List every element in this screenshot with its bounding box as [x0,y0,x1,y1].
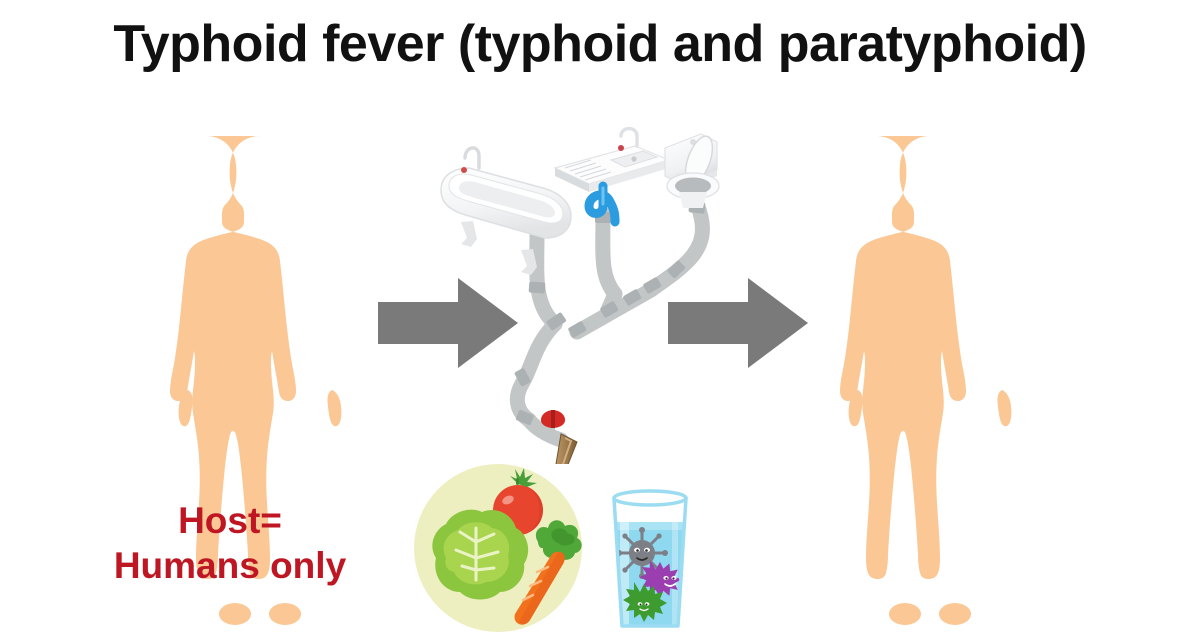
pipe-toilet-branch [651,204,702,290]
pipe-bathtub-branch [537,234,555,324]
coupling [529,281,546,293]
human-right-foot [269,603,301,625]
human-right-hand [327,390,341,426]
host-label-line-1: Host= [60,498,400,543]
bathtub-faucet [465,148,479,168]
germ-gray-body [629,540,655,566]
page-title: Typhoid fever (typhoid and paratyphoid) [0,14,1200,74]
host-label: Host= Humans only [60,498,400,588]
human-right-hand [997,390,1011,426]
kitchen-sink [555,129,669,193]
sink-drain-hole [631,156,636,161]
contaminated-food-illustration [412,462,584,639]
plumbing-system-illustration [425,124,725,469]
cabbage [432,510,528,600]
toilet [665,133,719,208]
human-right-foot [939,603,971,625]
bathtub-faucet-knob [461,167,467,173]
bathtub-leg [461,221,477,247]
human-silhouette-target [830,128,1030,633]
infographic-canvas: Typhoid fever (typhoid and paratyphoid) [0,0,1200,642]
human-body-path [840,136,966,579]
bathtub [441,148,571,275]
human-left-foot [889,603,921,625]
toilet-bowl-water [675,178,711,195]
drain-pipes [517,204,702,440]
sink-faucet [621,129,637,147]
glass-rim [614,491,686,505]
glass-highlight-right [672,502,678,626]
host-label-line-2: Humans only [60,543,400,588]
valve-handle-cross [551,410,555,428]
sink-faucet-knob [618,145,624,151]
toilet-pedestal [679,192,707,208]
tomato-stem [516,478,519,485]
contaminated-water-illustration [600,478,700,642]
human-left-foot [219,603,251,625]
